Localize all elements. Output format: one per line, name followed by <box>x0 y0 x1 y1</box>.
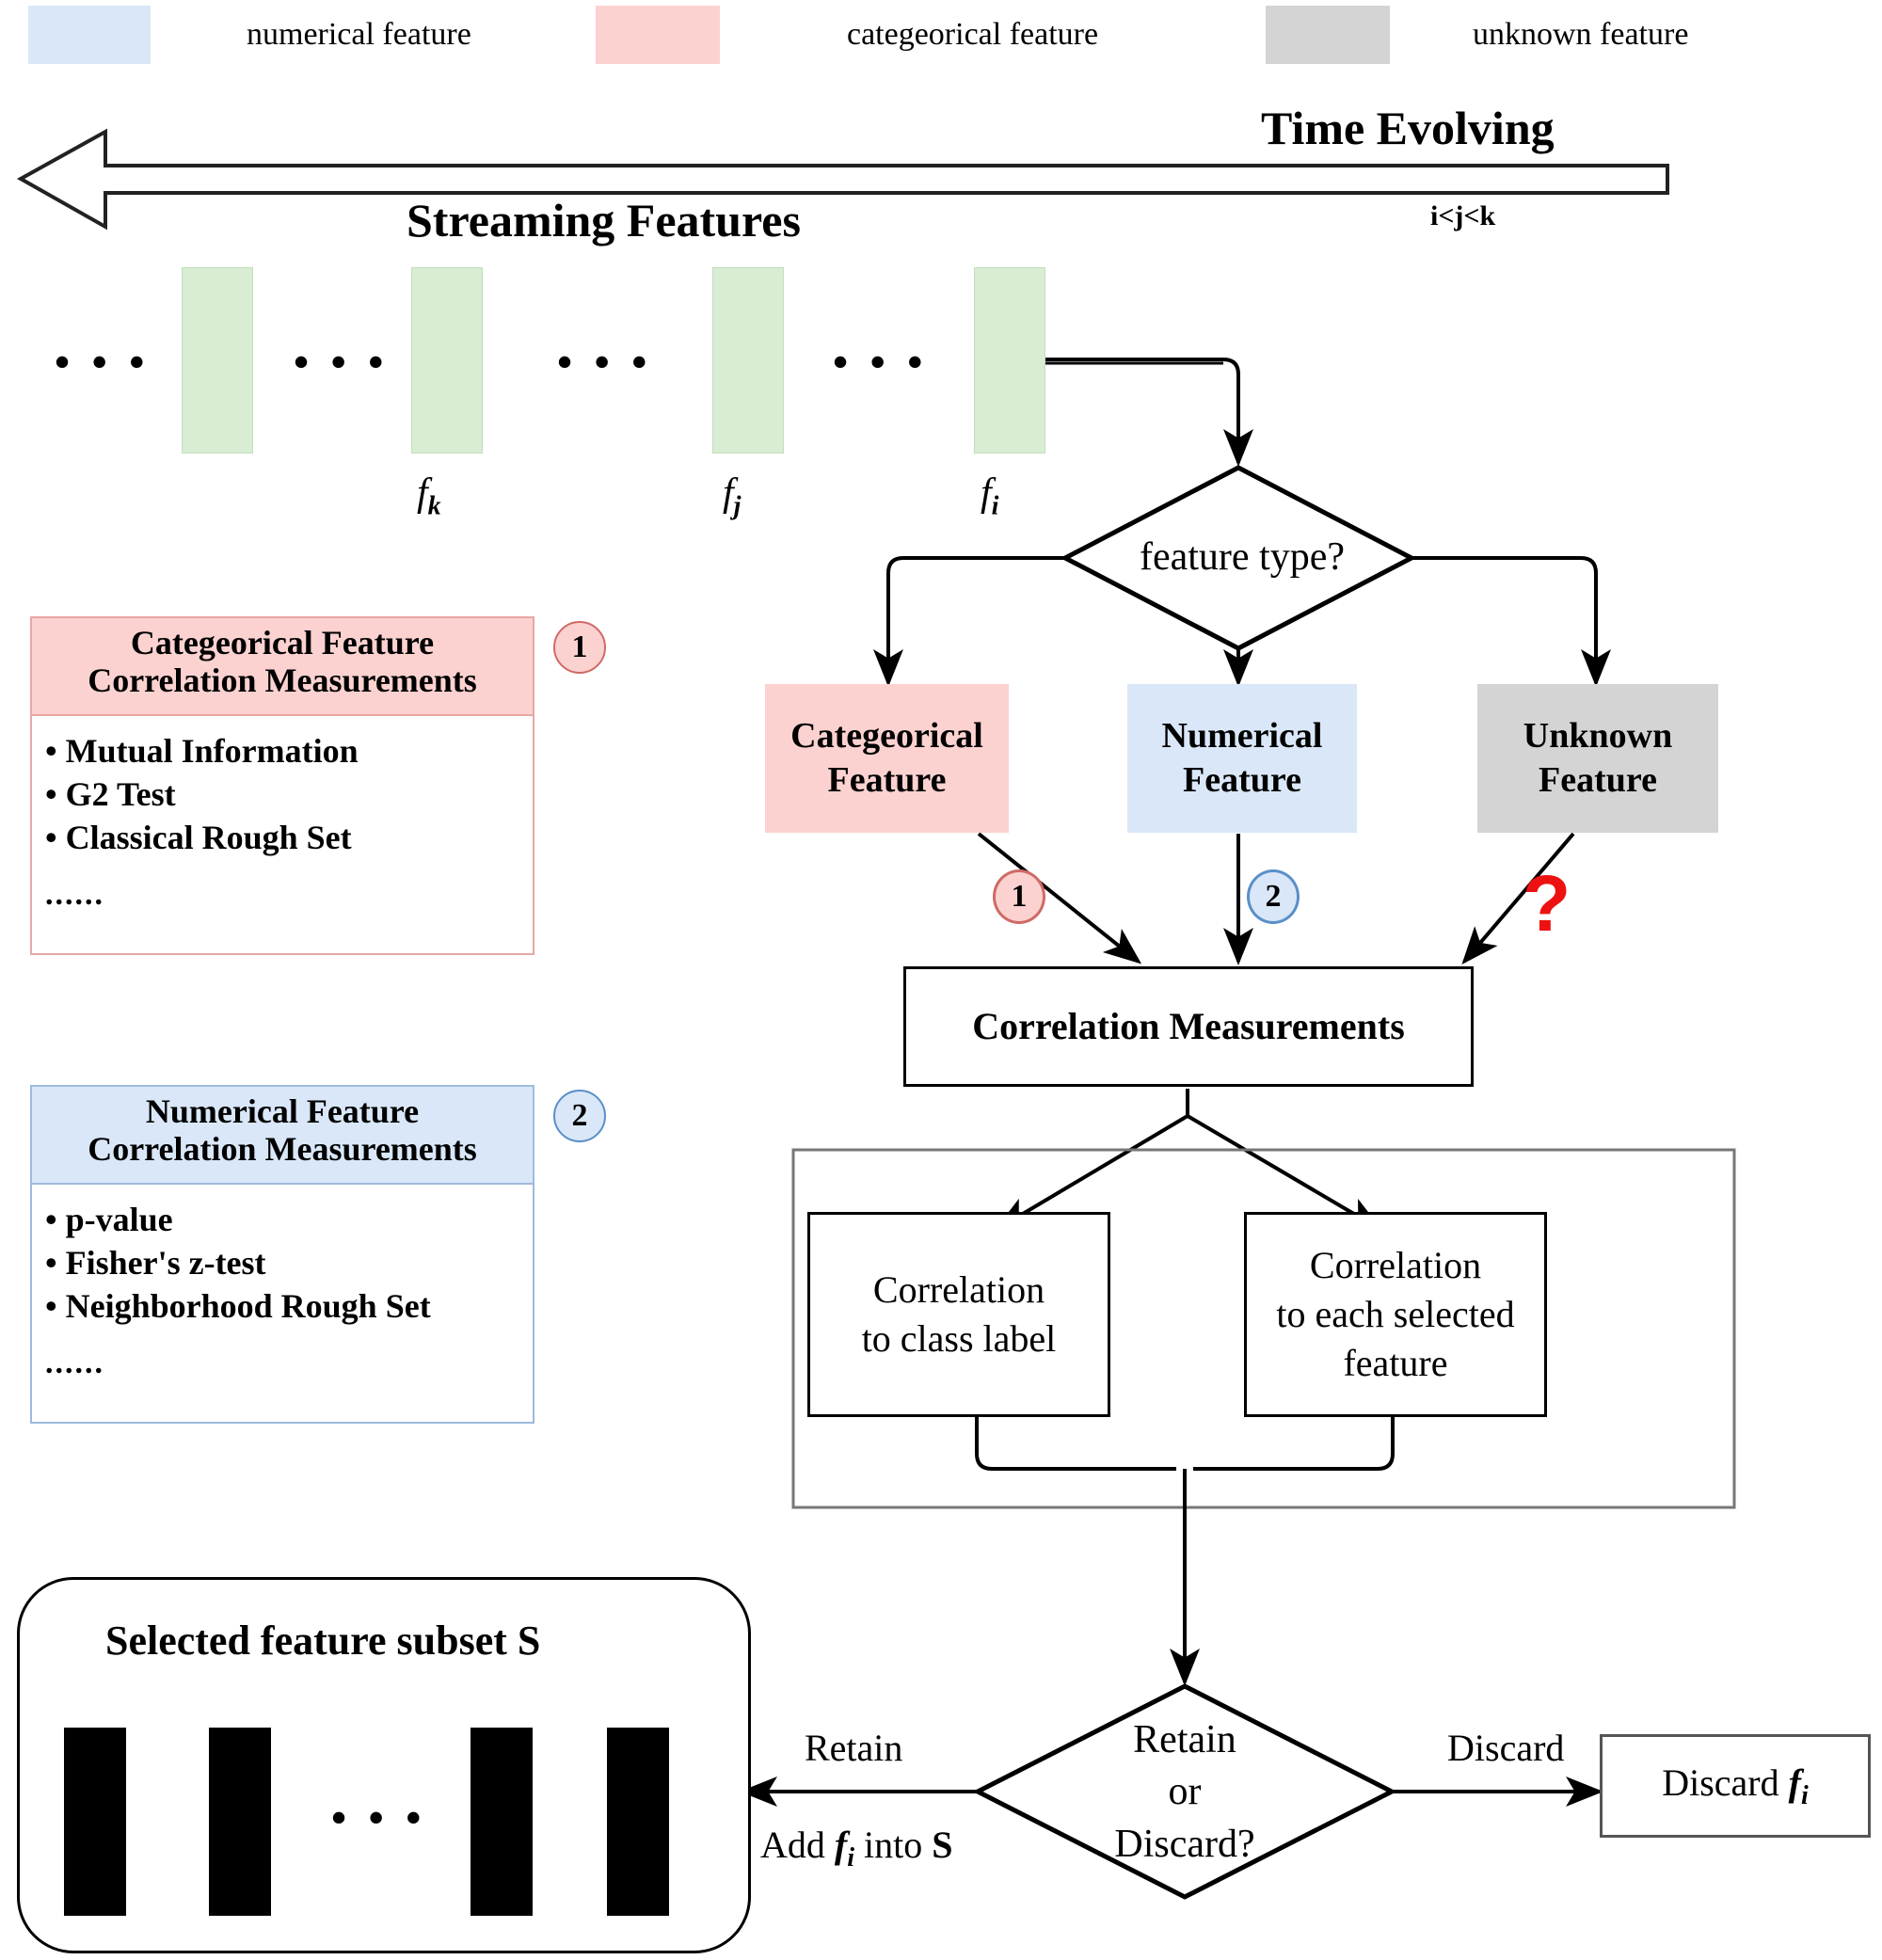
unknown-feature-node-line2: Feature <box>1523 758 1672 804</box>
feature-bar-0 <box>182 267 253 454</box>
numerical-panel-title-line1: Numerical Feature <box>36 1092 529 1130</box>
discard-box-f: f <box>1789 1761 1801 1804</box>
retain-discard-line3: Discard? <box>1062 1819 1307 1871</box>
categorical-item-2: • Classical Rough Set <box>45 816 533 859</box>
streaming-features-label: Streaming Features <box>407 193 801 247</box>
numerical-measurements-panel: Numerical Feature Correlation Measuremen… <box>30 1085 534 1424</box>
categorical-panel-title-line2: Correlation Measurements <box>36 661 529 699</box>
discard-edge-label: Discard <box>1447 1726 1564 1770</box>
numerical-panel-header: Numerical Feature Correlation Measuremen… <box>32 1087 533 1185</box>
categorical-item-1: • G2 Test <box>45 773 533 816</box>
subset-bar-0 <box>64 1728 126 1916</box>
categorical-panel-title-line1: Categeorical Feature <box>36 624 529 661</box>
fi-base: f <box>981 471 992 515</box>
subset-title-pre: Selected feature subset <box>105 1617 518 1664</box>
retain-add-label: Add fi into S <box>760 1823 952 1873</box>
numerical-feature-node: Numerical Feature <box>1127 684 1357 833</box>
unknown-feature-node: Unknown Feature <box>1477 684 1718 833</box>
categorical-feature-node: Categeorical Feature <box>765 684 1009 833</box>
fk-sub: k <box>428 491 441 520</box>
fj-base: f <box>723 471 734 515</box>
retain-discard-label: Retain or Discard? <box>1062 1714 1307 1871</box>
categorical-panel-body: • Mutual Information • G2 Test • Classic… <box>32 716 533 916</box>
correlation-class-label-line1: Correlation <box>862 1266 1057 1315</box>
subset-bar-1 <box>209 1728 271 1916</box>
order-label: i<j<k <box>1430 200 1495 232</box>
retain-add-fsub: i <box>847 1843 854 1872</box>
numerical-panel-title-line2: Correlation Measurements <box>36 1130 529 1168</box>
correlation-class-label-line2: to class label <box>862 1315 1057 1363</box>
time-evolving-label: Time Evolving <box>1261 101 1555 155</box>
retain-edge-label: Retain <box>805 1726 902 1770</box>
feature-bar-fk <box>411 267 483 454</box>
discard-box-fsub: i <box>1801 1781 1809 1810</box>
categorical-item-ellipsis: ...... <box>45 859 533 916</box>
retain-add-post: into <box>854 1824 932 1866</box>
retain-discard-line2: or <box>1062 1766 1307 1818</box>
subset-ellipsis: • • • <box>331 1793 426 1842</box>
feature-bar-fj <box>712 267 784 454</box>
fi-sub: i <box>992 491 999 520</box>
categorical-measurements-panel: Categeorical Feature Correlation Measure… <box>30 616 534 955</box>
selected-feature-subset-title: Selected feature subset S <box>105 1617 540 1665</box>
numerical-item-2: • Neighborhood Rough Set <box>45 1284 533 1328</box>
flow-badge-numerical: 2 <box>1247 869 1300 924</box>
categorical-feature-node-line1: Categeorical <box>790 714 983 759</box>
discard-feature-box: Discard fi <box>1600 1734 1871 1838</box>
categorical-feature-node-line2: Feature <box>790 758 983 804</box>
feature-label-fj: fj <box>723 470 741 521</box>
feature-type-label: feature type? <box>1110 534 1374 580</box>
feature-label-fi: fi <box>981 470 998 521</box>
unknown-feature-node-line1: Unknown <box>1523 714 1672 759</box>
stream-ellipsis-1: • • • <box>294 337 389 387</box>
retain-add-f: f <box>835 1824 847 1866</box>
discard-box-pre: Discard <box>1662 1761 1788 1804</box>
fk-base: f <box>417 471 428 515</box>
stream-ellipsis-2: • • • <box>557 337 652 387</box>
categorical-panel-badge: 1 <box>553 621 606 674</box>
subset-bar-2 <box>470 1728 533 1916</box>
retain-add-s: S <box>932 1824 952 1866</box>
diagram-canvas: numerical feature categeorical feature u… <box>0 0 1882 1960</box>
correlation-selected-line1: Correlation <box>1276 1241 1514 1290</box>
stream-ellipsis-0: • • • <box>55 337 150 387</box>
retain-add-pre: Add <box>760 1824 835 1866</box>
fj-sub: j <box>734 491 742 520</box>
correlation-selected-line3: feature <box>1276 1339 1514 1388</box>
numerical-panel-body: • p-value • Fisher's z-test • Neighborho… <box>32 1185 533 1384</box>
numerical-item-0: • p-value <box>45 1198 533 1241</box>
feature-label-fk: fk <box>417 470 441 521</box>
unknown-question-mark-icon: ? <box>1523 864 1571 943</box>
retain-discard-line1: Retain <box>1062 1714 1307 1766</box>
categorical-panel-header: Categeorical Feature Correlation Measure… <box>32 618 533 716</box>
subset-title-s: S <box>518 1617 540 1664</box>
feature-bar-fi <box>974 267 1045 454</box>
numerical-item-1: • Fisher's z-test <box>45 1241 533 1284</box>
correlation-measurements-box: Correlation Measurements <box>903 966 1474 1087</box>
correlation-class-label-box: Correlation to class label <box>807 1212 1110 1417</box>
numerical-feature-node-line2: Feature <box>1162 758 1323 804</box>
correlation-selected-line2: to each selected <box>1276 1290 1514 1339</box>
stream-ellipsis-3: • • • <box>833 337 928 387</box>
categorical-item-0: • Mutual Information <box>45 729 533 773</box>
numerical-item-ellipsis: ...... <box>45 1328 533 1384</box>
numerical-panel-badge: 2 <box>553 1090 606 1142</box>
numerical-feature-node-line1: Numerical <box>1162 714 1323 759</box>
flow-badge-categorical: 1 <box>993 869 1045 924</box>
correlation-selected-feature-box: Correlation to each selected feature <box>1244 1212 1547 1417</box>
subset-bar-3 <box>607 1728 669 1916</box>
